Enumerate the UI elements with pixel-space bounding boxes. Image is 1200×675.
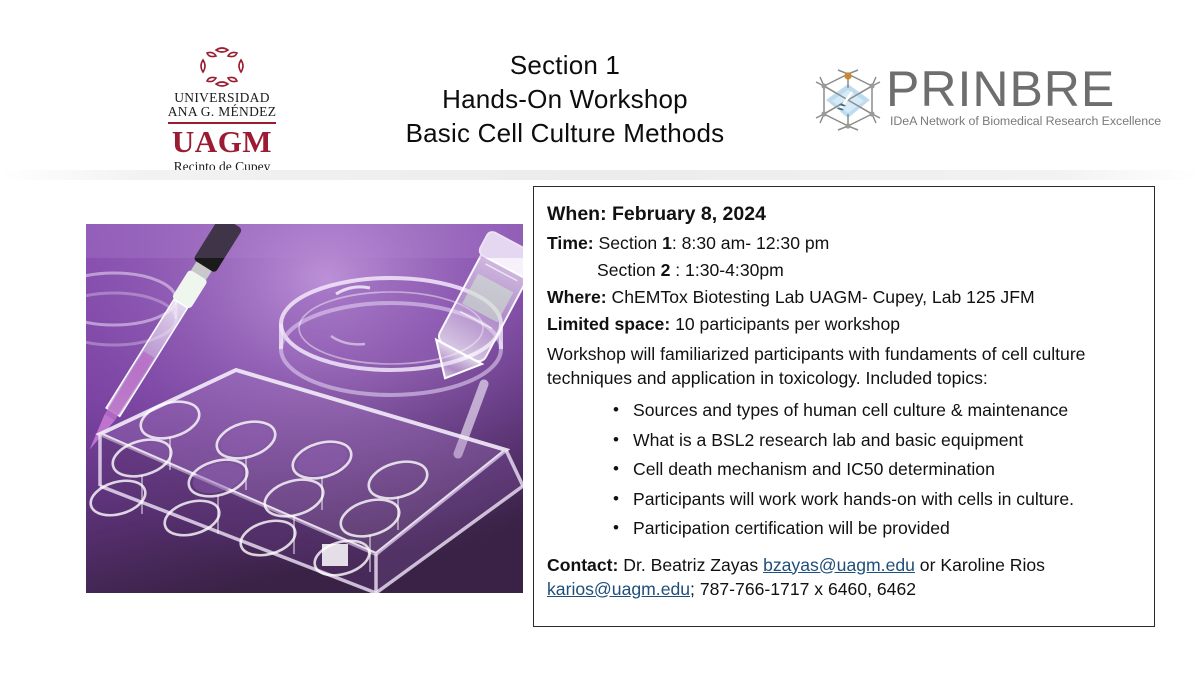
limited-space-value: 10 participants per workshop	[675, 314, 900, 334]
where-label: Where:	[547, 287, 607, 307]
title-line-section: Section 1	[330, 48, 800, 82]
time-label: Time:	[547, 233, 594, 253]
molecular-network-icon	[812, 68, 884, 132]
topics-list: Sources and types of human cell culture …	[547, 396, 1144, 544]
time-line-section1: Time: Section 1: 8:30 am- 12:30 pm	[547, 230, 1144, 257]
uagm-acronym: UAGM	[152, 126, 292, 158]
time-section1-value: : 8:30 am- 12:30 pm	[672, 233, 829, 253]
time-section1-prefix: Section	[599, 233, 663, 253]
title-line-topic: Basic Cell Culture Methods	[330, 116, 800, 150]
contact-name-1: Dr. Beatriz Zayas	[618, 555, 763, 575]
where-value: ChEMTox Biotesting Lab UAGM- Cupey, Lab …	[612, 287, 1035, 307]
list-item: Participants will work work hands-on wit…	[613, 485, 1144, 515]
email-link-karios[interactable]: karios@uagm.edu	[547, 579, 690, 599]
uagm-ring-emblem-icon	[195, 46, 249, 88]
title-line-workshop: Hands-On Workshop	[330, 82, 800, 116]
when-line: When: February 8, 2024	[547, 199, 1144, 230]
prinbre-tagline: IDeA Network of Biomedical Research Exce…	[890, 114, 1161, 128]
workshop-details-box: When: February 8, 2024 Time: Section 1: …	[533, 186, 1155, 627]
limited-space-label: Limited space:	[547, 314, 670, 334]
time-section2-value: : 1:30-4:30pm	[670, 260, 783, 280]
header-divider	[0, 170, 1200, 180]
time-section2-number: 2	[661, 260, 671, 280]
contact-line: Contact: Dr. Beatriz Zayas bzayas@uagm.e…	[547, 553, 1144, 601]
contact-conjunction: or Karoline Rios	[915, 555, 1045, 575]
when-label: When:	[547, 203, 607, 225]
list-item: Sources and types of human cell culture …	[613, 396, 1144, 426]
uagm-logo: UNIVERSIDAD ANA G. MÉNDEZ UAGM Recinto d…	[152, 46, 292, 174]
list-item: Cell death mechanism and IC50 determinat…	[613, 455, 1144, 485]
uagm-university-line1: UNIVERSIDAD	[152, 91, 292, 105]
time-section1-number: 1	[662, 233, 672, 253]
uagm-university-line2: ANA G. MÉNDEZ	[152, 105, 292, 119]
contact-label: Contact:	[547, 555, 618, 575]
cell-culture-lab-photo	[86, 224, 523, 593]
when-value: February 8, 2024	[612, 203, 766, 225]
email-link-bzayas[interactable]: bzayas@uagm.edu	[763, 555, 915, 575]
workshop-description: Workshop will familiarized participants …	[547, 342, 1144, 390]
time-line-section2: Section 2 : 1:30-4:30pm	[547, 257, 1144, 284]
prinbre-logo: PRINBRE IDeA Network of Biomedical Resea…	[812, 66, 1132, 138]
where-line: Where: ChEMTox Biotesting Lab UAGM- Cupe…	[547, 284, 1144, 311]
page-title: Section 1 Hands-On Workshop Basic Cell C…	[330, 48, 800, 150]
contact-phone: ; 787-766-1717 x 6460, 6462	[690, 579, 916, 599]
list-item: What is a BSL2 research lab and basic eq…	[613, 426, 1144, 456]
limited-space-line: Limited space: 10 participants per works…	[547, 311, 1144, 338]
prinbre-wordmark: PRINBRE	[886, 62, 1115, 116]
time-section2-prefix: Section	[597, 260, 661, 280]
list-item: Participation certification will be prov…	[613, 514, 1144, 544]
page-header: UNIVERSIDAD ANA G. MÉNDEZ UAGM Recinto d…	[0, 0, 1200, 178]
